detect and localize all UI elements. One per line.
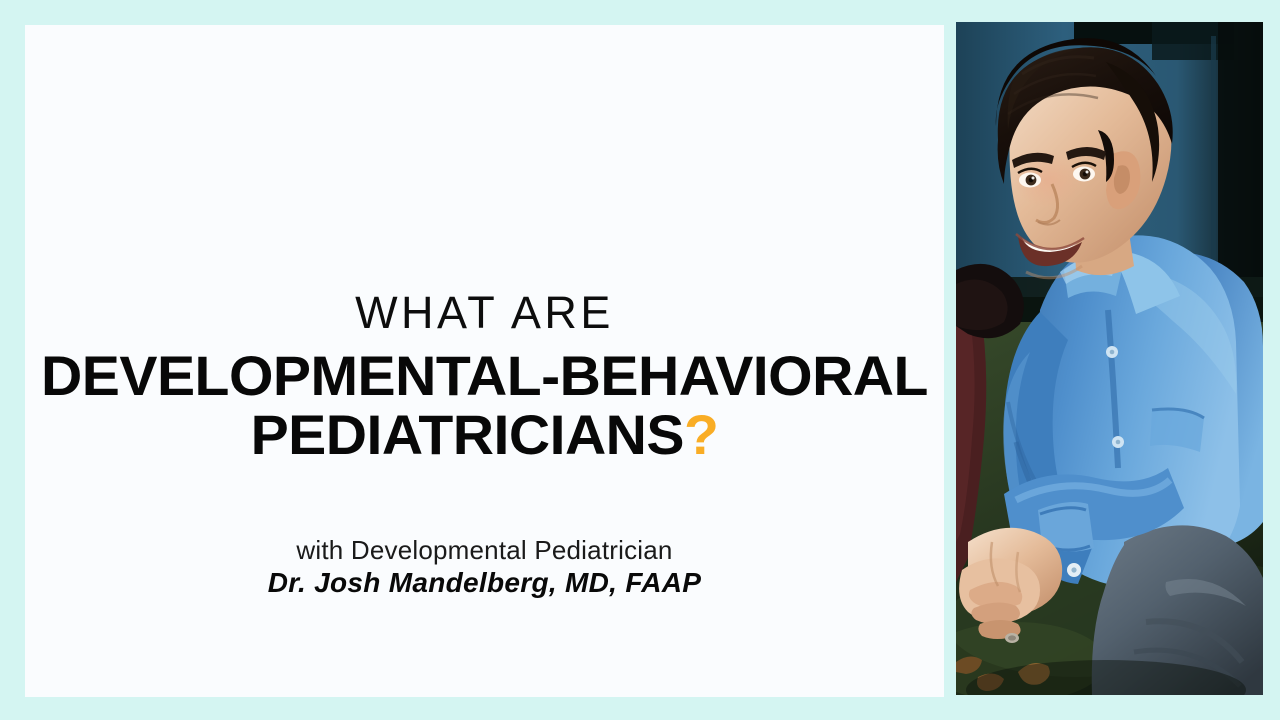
question-mark: ? xyxy=(684,403,718,466)
credit-name-line: Dr. Josh Mandelberg, MD, FAAP xyxy=(25,566,944,600)
speaker-photo-image xyxy=(956,22,1263,695)
credit-role-line: with Developmental Pediatrician xyxy=(25,535,944,566)
title-eyebrow: WHAT ARE xyxy=(25,289,944,337)
speaker-photo xyxy=(956,22,1263,695)
title-line-1: DEVELOPMENTAL-BEHAVIORAL xyxy=(16,347,953,404)
content-card: WHAT ARE DEVELOPMENTAL-BEHAVIORAL PEDIAT… xyxy=(25,25,944,697)
slide-canvas: WHAT ARE DEVELOPMENTAL-BEHAVIORAL PEDIAT… xyxy=(0,0,1280,720)
title-line-2-text: PEDIATRICIANS xyxy=(251,403,684,466)
credit-block: with Developmental Pediatrician Dr. Josh… xyxy=(25,535,944,600)
title-line-2: PEDIATRICIANS? xyxy=(16,406,953,463)
title-block: WHAT ARE DEVELOPMENTAL-BEHAVIORAL PEDIAT… xyxy=(25,289,944,463)
